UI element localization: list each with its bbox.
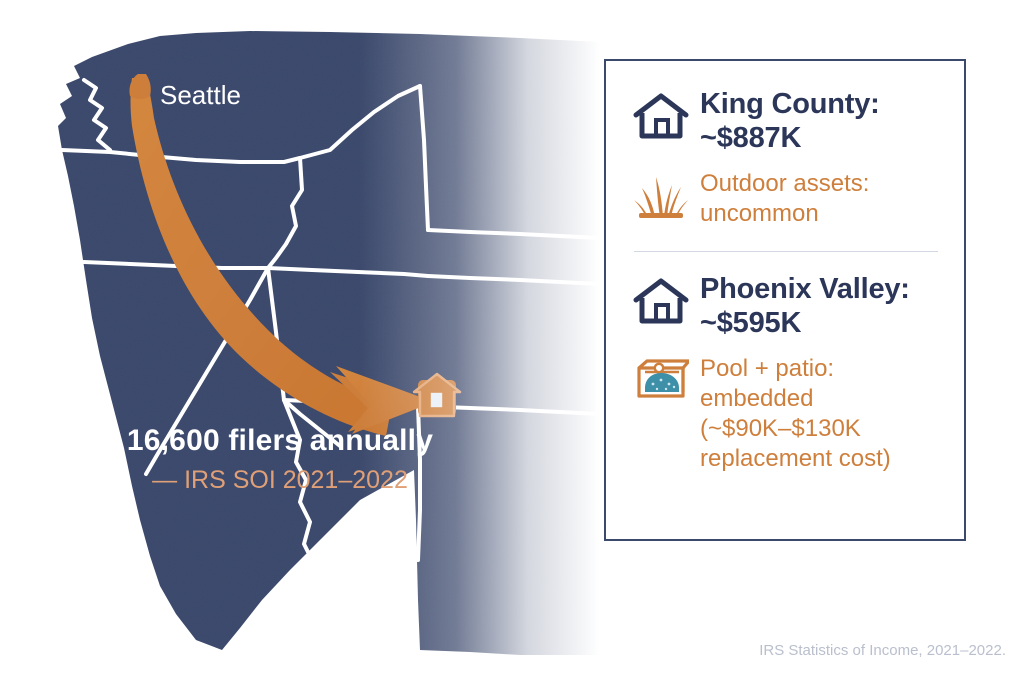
- phoenix-valley-text: Phoenix Valley: ~$595K: [692, 272, 942, 340]
- house-icon: [630, 87, 692, 141]
- king-county-value: ~$887K: [700, 121, 942, 155]
- pool-patio-line3: (~$90K–$130K: [700, 414, 942, 444]
- western-us-map: Seattle 16,600 filers annually — IRS SOI…: [0, 0, 600, 683]
- spacer: [630, 340, 942, 354]
- pool-icon: [630, 354, 692, 402]
- seattle-city-label: Seattle: [160, 80, 241, 111]
- spacer: [630, 155, 942, 169]
- pool-patio-line4: replacement cost): [700, 444, 942, 474]
- phoenix-valley-title: Phoenix Valley:: [700, 273, 910, 305]
- king-county-feature: Outdoor assets: uncommon: [700, 169, 942, 229]
- grass-icon: [630, 169, 692, 219]
- house-icon: [630, 272, 692, 326]
- phoenix-valley-value: ~$595K: [700, 306, 942, 340]
- phoenix-valley-feature: Pool + patio: embedded (~$90K–$130K repl…: [700, 354, 942, 473]
- source-footnote: IRS Statistics of Income, 2021–2022.: [759, 642, 1006, 659]
- phoenix-valley-heading: Phoenix Valley: ~$595K: [700, 272, 942, 340]
- phoenix-valley-feature-text: Pool + patio: embedded (~$90K–$130K repl…: [692, 354, 942, 473]
- phoenix-valley-price-row: Phoenix Valley: ~$595K: [630, 272, 942, 340]
- outdoor-assets-label: Outdoor assets:: [700, 170, 869, 197]
- infographic-canvas: Seattle 16,600 filers annually — IRS SOI…: [0, 0, 1024, 683]
- king-county-title: King County:: [700, 88, 880, 120]
- king-county-price-row: King County: ~$887K: [630, 87, 942, 155]
- king-county-heading: King County: ~$887K: [700, 87, 942, 155]
- pool-patio-label: Pool + patio:: [700, 355, 834, 382]
- phoenix-valley-block: Phoenix Valley: ~$595K: [630, 272, 942, 473]
- comparison-panel: King County: ~$887K: [604, 59, 966, 541]
- phoenix-valley-feature-row: Pool + patio: embedded (~$90K–$130K repl…: [630, 354, 942, 473]
- king-county-feature-row: Outdoor assets: uncommon: [630, 169, 942, 229]
- king-county-feature-text: Outdoor assets: uncommon: [692, 169, 942, 229]
- king-county-text: King County: ~$887K: [692, 87, 942, 155]
- map-graphic: [0, 0, 600, 683]
- outdoor-assets-value: uncommon: [700, 199, 942, 229]
- pool-patio-line2: embedded: [700, 384, 942, 414]
- panel-divider: [634, 251, 938, 252]
- king-county-block: King County: ~$887K: [630, 87, 942, 229]
